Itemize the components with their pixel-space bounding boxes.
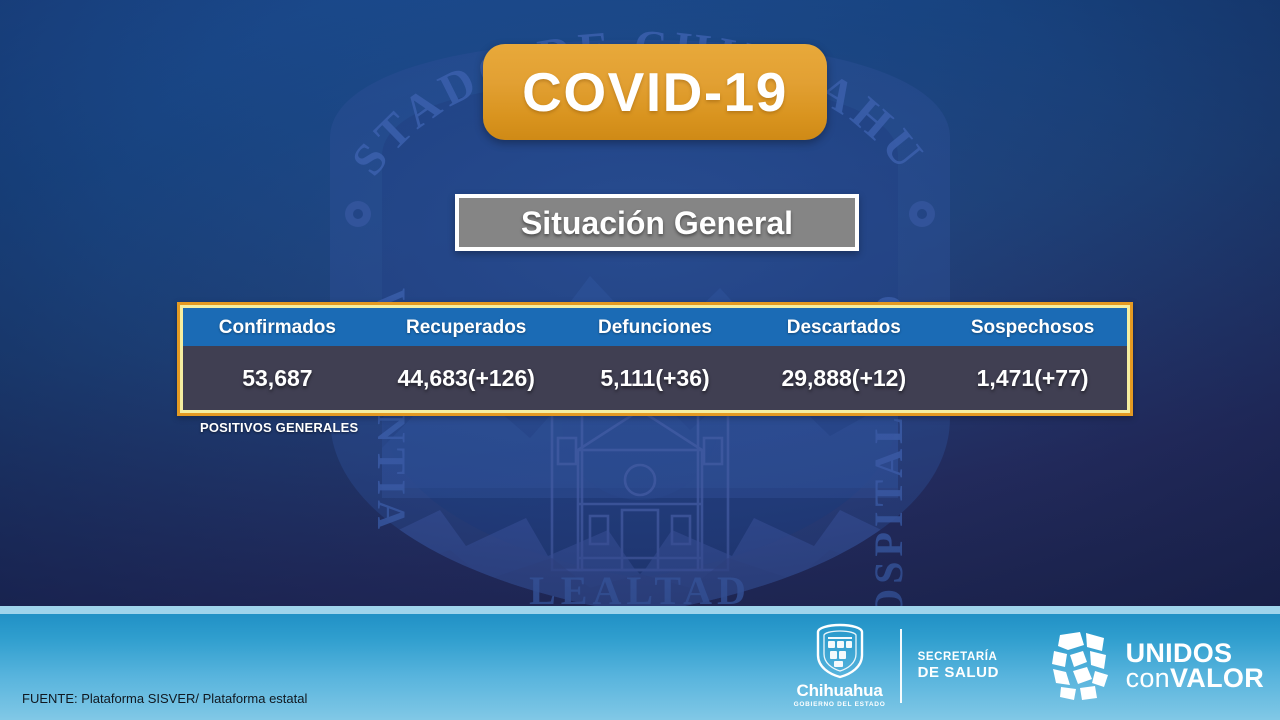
chihuahua-shield-icon — [814, 623, 866, 679]
footer-logo-divider — [900, 629, 902, 703]
stats-header-defunciones: Defunciones — [561, 318, 750, 337]
stats-value-confirmados: 53,687 — [183, 367, 372, 390]
stats-table: Confirmados Recuperados Defunciones Desc… — [177, 302, 1133, 416]
stats-value-recuperados: 44,683(+126) — [372, 367, 561, 390]
footer-logo-group: Chihuahua GOBIERNO DEL ESTADO SECRETARÍA… — [794, 620, 1264, 712]
positivos-generales-caption: POSITIVOS GENERALES — [200, 421, 358, 434]
stats-header-descartados: Descartados — [749, 318, 938, 337]
footer-top-strip — [0, 606, 1280, 614]
chihuahua-logo-name: Chihuahua — [797, 682, 883, 699]
slide-main-panel: ESTADO DE CHIHUAHUA VALENTIA HOSPITALIDA… — [0, 0, 1280, 606]
stats-header-confirmados: Confirmados — [183, 318, 372, 337]
stats-table-value-row: 53,687 44,683(+126) 5,111(+36) 29,888(+1… — [183, 346, 1127, 410]
stats-value-defunciones: 5,111(+36) — [561, 367, 750, 390]
secretaria-de-salud-logo: SECRETARÍA DE SALUD — [918, 651, 1014, 681]
chihuahua-government-logo: Chihuahua GOBIERNO DEL ESTADO — [794, 623, 886, 709]
stats-header-recuperados: Recuperados — [372, 318, 561, 337]
chihuahua-state-map-icon — [1046, 629, 1118, 703]
con-word: con — [1126, 666, 1170, 691]
stats-value-sospechosos: 1,471(+77) — [938, 367, 1127, 390]
valor-word: VALOR — [1170, 666, 1264, 691]
subtitle-box: Situación General — [455, 194, 859, 251]
covid-title-badge: COVID-19 — [483, 44, 827, 140]
crest-bottom-word: LEALTAD — [529, 568, 751, 606]
salud-line-1: SECRETARÍA — [918, 651, 1014, 664]
salud-line-2: DE SALUD — [918, 664, 1014, 681]
unidos-con-valor-logo: UNIDOS conVALOR — [1046, 629, 1264, 703]
covid-dashboard-slide: ESTADO DE CHIHUAHUA VALENTIA HOSPITALIDA… — [0, 0, 1280, 720]
unidos-con-valor-wordmark: UNIDOS conVALOR — [1126, 641, 1264, 691]
footer-source-text: FUENTE: Plataforma SISVER/ Plataforma es… — [22, 692, 307, 705]
slide-footer: FUENTE: Plataforma SISVER/ Plataforma es… — [0, 606, 1280, 720]
stats-value-descartados: 29,888(+12) — [749, 367, 938, 390]
stats-table-header-row: Confirmados Recuperados Defunciones Desc… — [183, 308, 1127, 346]
stats-table-inner: Confirmados Recuperados Defunciones Desc… — [180, 305, 1130, 413]
chihuahua-logo-subtitle: GOBIERNO DEL ESTADO — [794, 702, 886, 709]
subtitle-text: Situación General — [521, 207, 793, 239]
stats-header-sospechosos: Sospechosos — [938, 318, 1127, 337]
covid-title-text: COVID-19 — [522, 65, 788, 120]
